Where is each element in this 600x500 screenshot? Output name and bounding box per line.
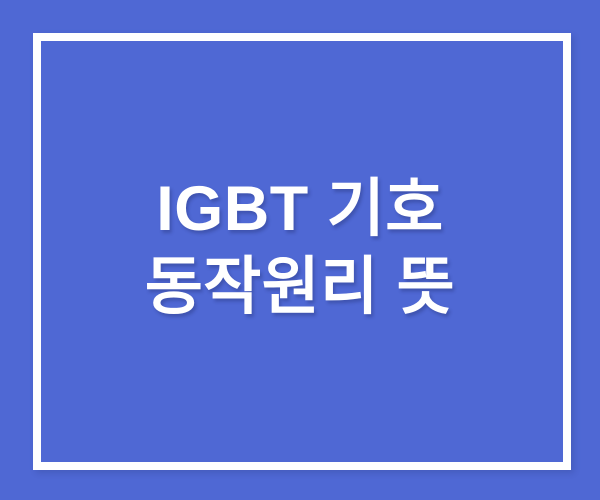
title-line-1: IGBT 기호 (0, 175, 600, 243)
title-line-2: 동작원리 뜻 (0, 253, 600, 321)
title-block: IGBT 기호 동작원리 뜻 (0, 175, 600, 325)
thumbnail-canvas: IGBT 기호 동작원리 뜻 (0, 0, 600, 500)
